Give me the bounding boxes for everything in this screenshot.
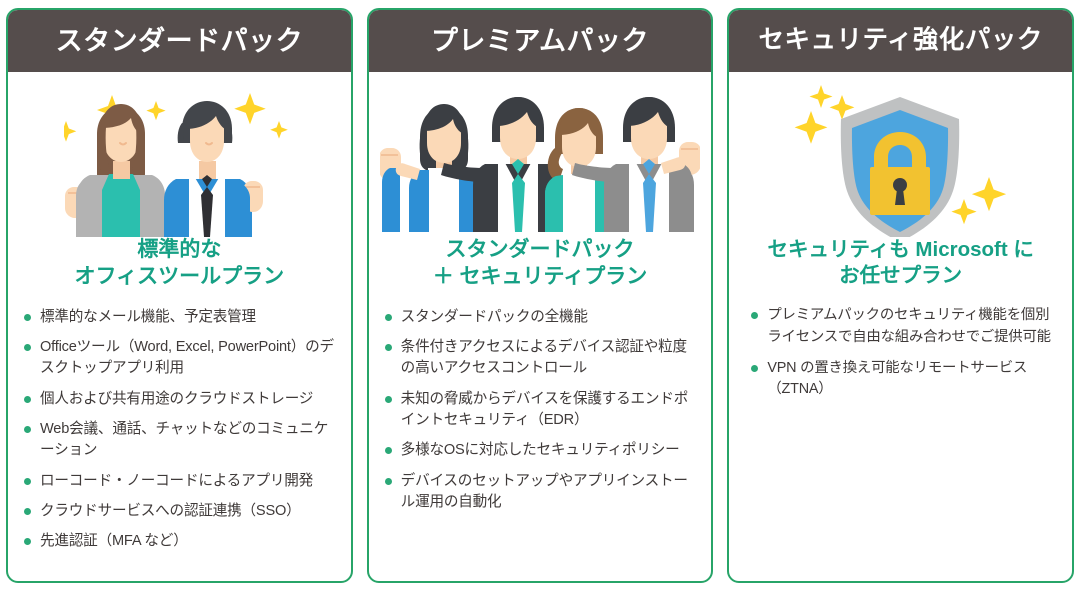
list-item: プレミアムパックのセキュリティ機能を個別ライセンスで自由な組み合わせでご提供可能 [751,305,1058,347]
list-item: Officeツール（Word, Excel, PowerPoint）のデスクトッ… [24,337,337,380]
list-item: スタンダードパックの全機能 [385,307,698,328]
two-people-icon [8,72,351,237]
plan-card-header: セキュリティ強化パック [729,10,1072,72]
plan-header-title: スタンダードパック [56,28,304,55]
plan-title-line-1: スタンダードパック [379,237,702,264]
four-people-illustration [380,82,700,232]
plan-card-header: プレミアムパック [369,10,712,72]
two-people-illustration [64,77,294,237]
list-item: 多様なOSに対応したセキュリティポリシー [385,440,698,461]
plan-card-header: スタンダードパック [8,10,351,72]
list-item: Web会議、通話、チャットなどのコミュニケーション [24,419,337,462]
plan-title: スタンダードパック ＋ セキュリティプラン [369,237,712,291]
list-item: 先進認証（MFA など） [24,531,337,552]
list-item: 個人および共有用途のクラウドストレージ [24,389,337,410]
plan-title-line-2: ＋ セキュリティプラン [379,264,702,291]
plan-card-premium: プレミアムパック [367,8,714,583]
plan-comparison-board: スタンダードパック [0,0,1080,595]
plan-title: 標準的な オフィスツールプラン [8,237,351,291]
feature-list: スタンダードパックの全機能 条件付きアクセスによるデバイス認証や粒度の高いアクセ… [369,307,712,522]
four-people-icon [369,72,712,237]
list-item: クラウドサービスへの認証連携（SSO） [24,501,337,522]
list-item: デバイスのセットアップやアプリインストール運用の自動化 [385,471,698,514]
feature-list: 標準的なメール機能、予定表管理 Officeツール（Word, Excel, P… [8,307,351,562]
plan-card-standard: スタンダードパック [6,8,353,583]
list-item: 未知の脅威からデバイスを保護するエンドポイントセキュリティ（EDR） [385,389,698,432]
shield-lock-icon [729,72,1072,237]
plan-title-line-2: オフィスツールプラン [18,264,341,291]
list-item: ローコード・ノーコードによるアプリ開発 [24,471,337,492]
plan-title-line-1: 標準的な [18,237,341,264]
plan-title-line-1: セキュリティも Microsoft に [739,237,1062,263]
plan-header-title: セキュリティ強化パック [758,28,1042,54]
plan-title: セキュリティも Microsoft に お任せプラン [729,237,1072,289]
shield-lock-illustration [781,77,1021,237]
list-item: 標準的なメール機能、予定表管理 [24,307,337,328]
list-item: VPN の置き換え可能なリモートサービス（ZTNA） [751,358,1058,400]
plan-card-security: セキュリティ強化パック [727,8,1074,583]
plan-header-title: プレミアムパック [431,28,649,55]
plan-title-line-2: お任せプラン [739,263,1062,289]
feature-list: プレミアムパックのセキュリティ機能を個別ライセンスで自由な組み合わせでご提供可能… [729,305,1072,409]
list-item: 条件付きアクセスによるデバイス認証や粒度の高いアクセスコントロール [385,337,698,380]
